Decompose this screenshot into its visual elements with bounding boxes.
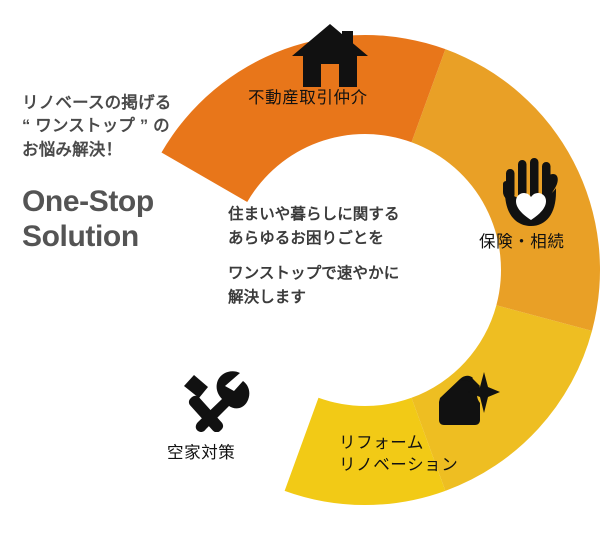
lead-line-2: “ ワンストップ ” の [22,115,227,138]
segment-label-real-estate-line-1: 不動産取引仲介 [248,88,368,110]
center-p1-line-1: 住まいや暮らしに関する [228,203,458,227]
diagram-canvas: リノベースの掲げる “ ワンストップ ” の お悩み解決！ One-Stop S… [0,0,600,533]
sparkle-home-icon [436,372,500,426]
center-p1-line-2: あらゆるお困りごとを [228,227,458,251]
headline-line-2: Solution [22,219,227,254]
segment-label-vacant-house[interactable]: 空家対策 [167,443,235,465]
segment-label-insurance-inheritance[interactable]: 保険・相続 [479,232,565,254]
center-copy-block: 住まいや暮らしに関する あらゆるお困りごとを ワンストップで速やかに 解決します [228,203,458,309]
segment-label-real-estate[interactable]: 不動産取引仲介 [248,88,368,110]
center-p2-line-2: 解決します [228,286,458,310]
headline-line-1: One-Stop [22,184,227,219]
tools-icon [178,370,250,432]
segment-label-reform-renovation-line-1: リフォーム [339,433,458,455]
center-paragraph-1: 住まいや暮らしに関する あらゆるお困りごとを [228,203,458,250]
left-copy-block: リノベースの掲げる “ ワンストップ ” の お悩み解決！ One-Stop S… [22,92,227,254]
house-icon [292,23,368,89]
segment-label-reform-renovation[interactable]: リフォーム リノベーション [339,433,458,477]
center-p2-line-1: ワンストップで速やかに [228,262,458,286]
segment-label-vacant-house-line-1: 空家対策 [167,443,235,465]
hand-heart-icon [500,158,562,226]
segment-label-reform-renovation-line-2: リノベーション [339,455,458,477]
center-paragraph-2: ワンストップで速やかに 解決します [228,262,458,309]
segment-label-insurance-inheritance-line-1: 保険・相続 [479,232,565,254]
page-title: One-Stop Solution [22,184,227,254]
lead-line-3: お悩み解決！ [22,139,227,162]
lead-line-1: リノベースの掲げる [22,92,227,115]
